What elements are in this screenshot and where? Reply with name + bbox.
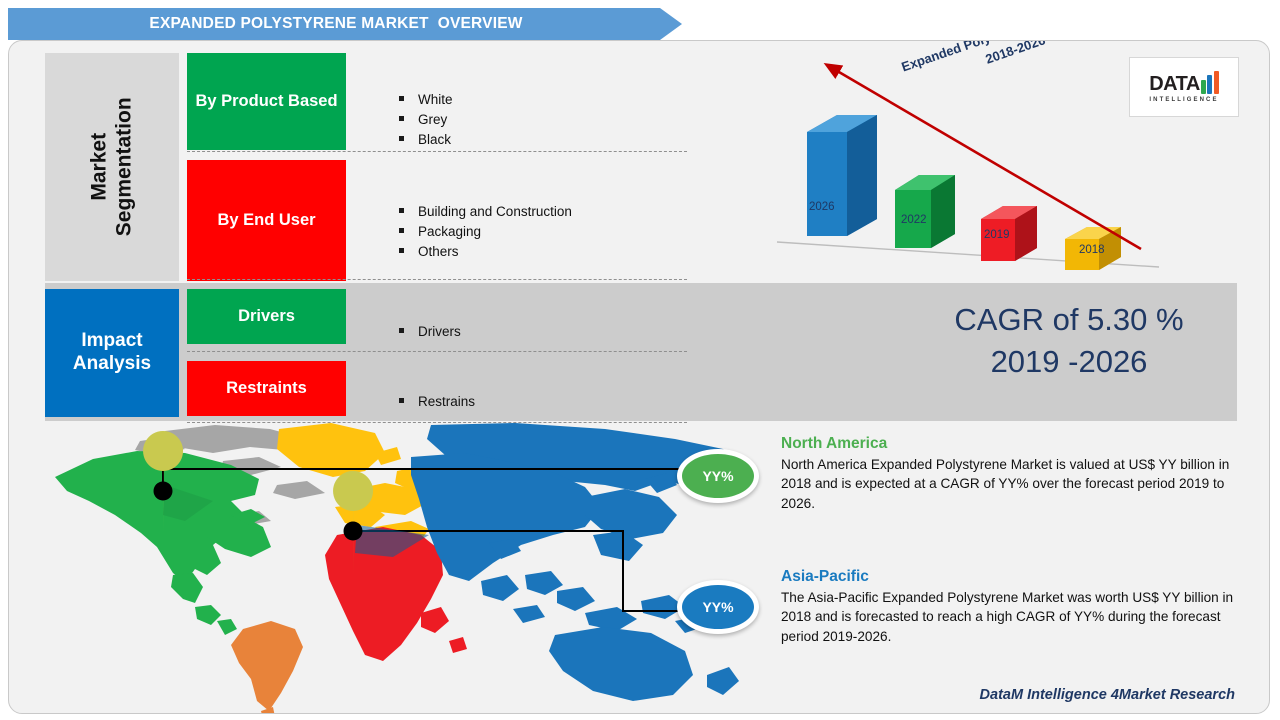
market-segmentation-label-box: Market Segmentation — [45, 53, 179, 281]
region-name: North America — [781, 435, 1237, 453]
datam-intelligence-logo: DATA INTELLIGENCE — [1129, 57, 1239, 117]
list-item: Others — [399, 242, 572, 261]
list-item: Restrains — [399, 392, 475, 411]
impact-category-drivers: Drivers — [187, 289, 346, 344]
list-item: Building and Construction — [399, 202, 572, 221]
impact-analysis-label-box: Impact Analysis — [45, 289, 179, 417]
header-banner: EXPANDED POLYSTYRENE MARKET OVERVIEW — [8, 8, 682, 40]
map-region-south-america — [231, 621, 303, 714]
impact-category-restraints: Restraints — [187, 361, 346, 416]
region-name: Asia-Pacific — [781, 568, 1237, 586]
infographic-card: Market Segmentation By Product Based Whi… — [8, 40, 1270, 714]
region-description: North America Expanded Polystyrene Marke… — [781, 455, 1237, 513]
segment-category-label: By Product Based — [195, 92, 337, 112]
impact-items-drivers: Drivers — [359, 322, 461, 342]
divider — [187, 151, 687, 152]
page-title: EXPANDED POLYSTYRENE MARKET OVERVIEW — [149, 15, 522, 33]
segment-category-label: By End User — [217, 211, 315, 231]
region-callout-north-america: YY% North America North America Expanded… — [677, 435, 1237, 513]
list-item: White — [399, 90, 453, 109]
bar-label-2026: 2026 — [809, 201, 835, 213]
divider — [187, 279, 687, 280]
bar-label-2019: 2019 — [984, 229, 1010, 241]
cagr-value: CAGR of 5.30 % — [954, 302, 1183, 337]
list-item: Grey — [399, 110, 453, 129]
segment-category-by-end-user: By End User — [187, 160, 346, 281]
market-value-bar-chart: Expanded Polystyrene Market Value, 2018-… — [749, 49, 1169, 279]
region-callout-asia-pacific: YY% Asia-Pacific The Asia-Pacific Expand… — [677, 568, 1237, 646]
list-item: Drivers — [399, 322, 461, 341]
badge-value: YY% — [702, 468, 733, 484]
impact-analysis-label: Impact Analysis — [73, 330, 151, 376]
logo-bars-icon — [1201, 71, 1219, 94]
bar-label-2022: 2022 — [901, 214, 927, 226]
region-description: The Asia-Pacific Expanded Polystyrene Ma… — [781, 588, 1237, 646]
impact-category-label: Drivers — [238, 307, 295, 327]
list-item: Packaging — [399, 222, 572, 241]
cagr-highlight: CAGR of 5.30 % 2019 -2026 — [869, 299, 1269, 383]
segment-category-by-product-based: By Product Based — [187, 53, 346, 150]
impact-category-label: Restraints — [226, 379, 307, 399]
footer-attribution: DataM Intelligence 4Market Research — [980, 687, 1235, 703]
asia-pacific-badge: YY% — [677, 580, 759, 634]
bar-chart-svg — [749, 49, 1169, 279]
logo-subtitle: INTELLIGENCE — [1149, 97, 1218, 103]
badge-value: YY% — [702, 599, 733, 615]
segment-items-by-product-based: White Grey Black — [359, 90, 453, 150]
list-item: Black — [399, 130, 453, 149]
north-america-badge: YY% — [677, 449, 759, 503]
bar-label-2018: 2018 — [1079, 244, 1105, 256]
market-segmentation-label: Market Segmentation — [87, 98, 137, 237]
logo-wordmark: DATA — [1149, 74, 1200, 94]
impact-items-restraints: Restrains — [359, 392, 475, 412]
cagr-period: 2019 -2026 — [869, 341, 1269, 383]
divider — [187, 351, 687, 352]
segment-items-by-end-user: Building and Construction Packaging Othe… — [359, 202, 572, 262]
logo-row: DATA — [1149, 71, 1219, 94]
